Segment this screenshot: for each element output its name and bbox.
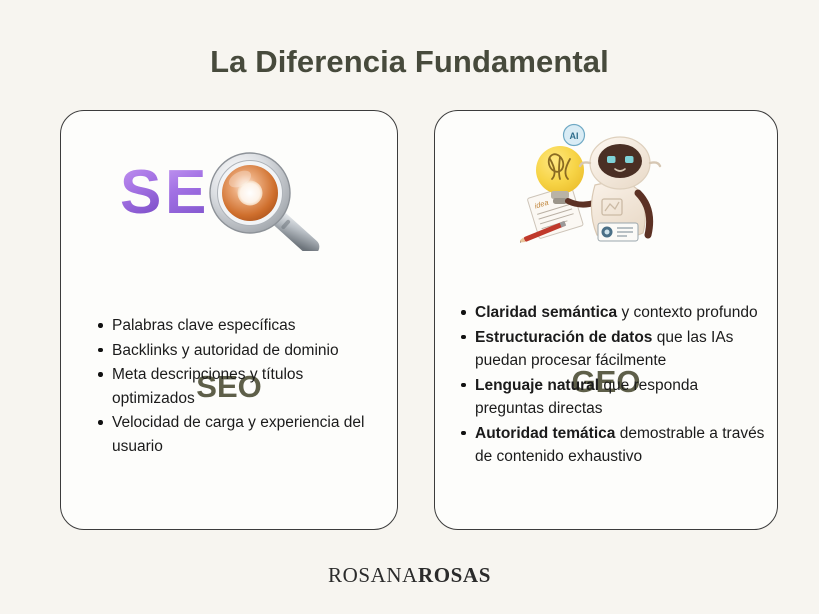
slide-canvas: La Diferencia Fundamental [0, 0, 819, 614]
robot-head [580, 137, 660, 189]
list-item-bold: Estructuración de datos [475, 329, 652, 346]
card-geo: AI idea [434, 110, 778, 530]
list-item: Estructuración de datos que las IAs pued… [460, 326, 765, 373]
svg-text:E: E [165, 158, 206, 227]
list-item: Autoridad temática demostrable a través … [460, 422, 765, 469]
feature-list-seo: Palabras clave específicas Backlinks y a… [97, 314, 367, 459]
card-seo: S E SEO [60, 110, 398, 530]
list-item-bold: Autoridad temática [475, 425, 615, 442]
feature-list-geo: Claridad semántica y contexto profundo E… [460, 301, 765, 470]
ai-badge: AI [564, 125, 585, 146]
list-item-text: Velocidad de carga y experiencia del usu… [112, 414, 364, 455]
list-item-text: y contexto profundo [617, 304, 757, 321]
list-item-text: Backlinks y autoridad de dominio [112, 342, 339, 359]
list-item: Velocidad de carga y experiencia del usu… [97, 411, 367, 458]
list-item-bold: Claridad semántica [475, 304, 617, 321]
list-item-text: Palabras clave específicas [112, 317, 296, 334]
page-title: La Diferencia Fundamental [0, 44, 819, 80]
seo-magnifier-logo: S E [110, 141, 350, 251]
list-item: Claridad semántica y contexto profundo [460, 301, 765, 325]
brand-logo: ROSANAROSAS [0, 563, 819, 588]
svg-text:AI: AI [570, 131, 579, 141]
list-item: Lenguaje natural que responda preguntas … [460, 374, 765, 421]
list-item: Palabras clave específicas [97, 314, 367, 338]
brand-name-bold: ROSAS [418, 563, 491, 587]
data-card [598, 223, 638, 241]
list-item-bold: Lenguaje natural [475, 377, 599, 394]
robot-left-arm [568, 201, 594, 205]
list-item: Meta descripciones y títulos optimizados [97, 363, 367, 410]
brand-name-light: ROSANA [328, 563, 418, 587]
list-item-text: Meta descripciones y títulos optimizados [112, 366, 303, 407]
ai-robot-illustration: AI idea [520, 123, 690, 248]
svg-text:S: S [120, 158, 161, 227]
list-item: Backlinks y autoridad de dominio [97, 339, 367, 363]
